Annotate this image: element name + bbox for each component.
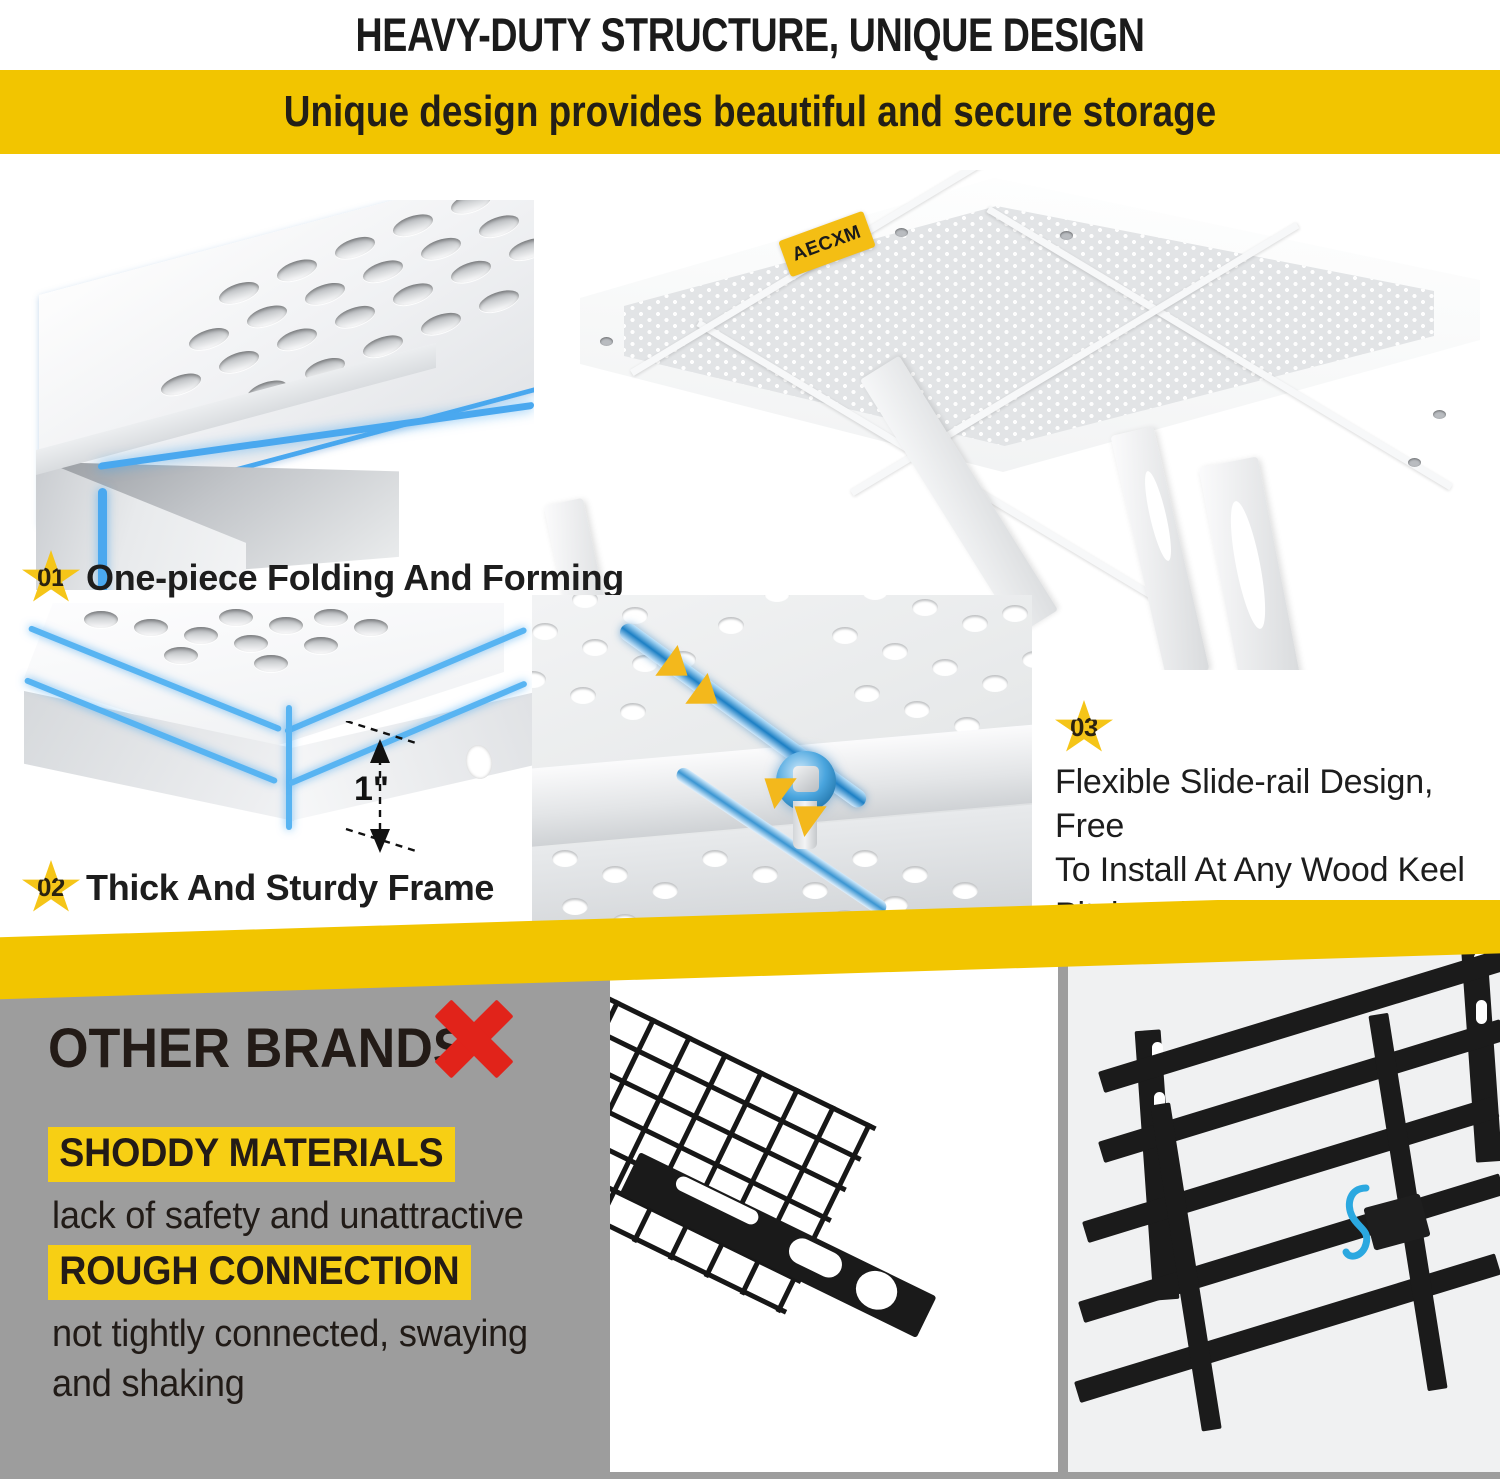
comparison-headline-2: ROUGH CONNECTION	[48, 1245, 471, 1300]
mounting-screw	[1408, 458, 1421, 467]
mounting-screw	[895, 228, 908, 237]
feature-image-sturdy-frame: 1"	[14, 595, 534, 880]
feature-badge-03-number: 03	[1070, 712, 1098, 743]
feature-badge-03: 03	[1055, 700, 1113, 756]
comparison-description-1: lack of safety and unattractive	[52, 1192, 524, 1241]
feature-image-one-piece	[14, 200, 534, 590]
header-subtitle-band: Unique design provides beautiful and sec…	[0, 70, 1500, 154]
dimension-label: 1"	[354, 770, 389, 809]
divider-bar	[0, 900, 1500, 1000]
wire-mesh-deck	[610, 982, 1047, 1472]
mounting-screw	[600, 337, 613, 346]
page-title: HEAVY-DUTY STRUCTURE, UNIQUE DESIGN	[150, 4, 1350, 70]
comparison-description-2-line1: not tightly connected, swaying	[52, 1310, 528, 1359]
feature-label-03-line2: To Install At Any Wood Keel	[1055, 848, 1485, 892]
red-x-icon	[432, 998, 514, 1080]
perforation-pattern	[624, 206, 1434, 456]
rack-crossbar	[1078, 1173, 1500, 1323]
mounting-screw	[1433, 410, 1446, 419]
comparison-description-2-line2: and shaking	[52, 1360, 245, 1409]
section-divider	[0, 900, 1500, 1010]
competitor-photo-rack-connection	[1068, 952, 1500, 1472]
shelf-perforated-deck	[624, 206, 1434, 456]
feature-image-slide-rail	[532, 595, 1032, 925]
blue-edge-highlight	[286, 705, 292, 830]
page-subtitle: Unique design provides beautiful and sec…	[120, 70, 1380, 154]
feature-label-03-line1: Flexible Slide-rail Design, Free	[1055, 760, 1485, 848]
feature-label-01: One-piece Folding And Forming	[86, 557, 624, 599]
competitor-photo-wire-shelf	[610, 952, 1058, 1472]
comparison-section: OTHER BRANDS SHODDY MATERIALS lack of sa…	[0, 940, 1500, 1479]
hook-icon	[1336, 1182, 1392, 1274]
header: HEAVY-DUTY STRUCTURE, UNIQUE DESIGN Uniq…	[0, 0, 1500, 170]
features-section: AECXM	[0, 155, 1500, 945]
mounting-screw	[1060, 231, 1073, 240]
comparison-headline-1: SHODDY MATERIALS	[48, 1127, 455, 1182]
comparison-title: OTHER BRANDS	[48, 1015, 468, 1080]
